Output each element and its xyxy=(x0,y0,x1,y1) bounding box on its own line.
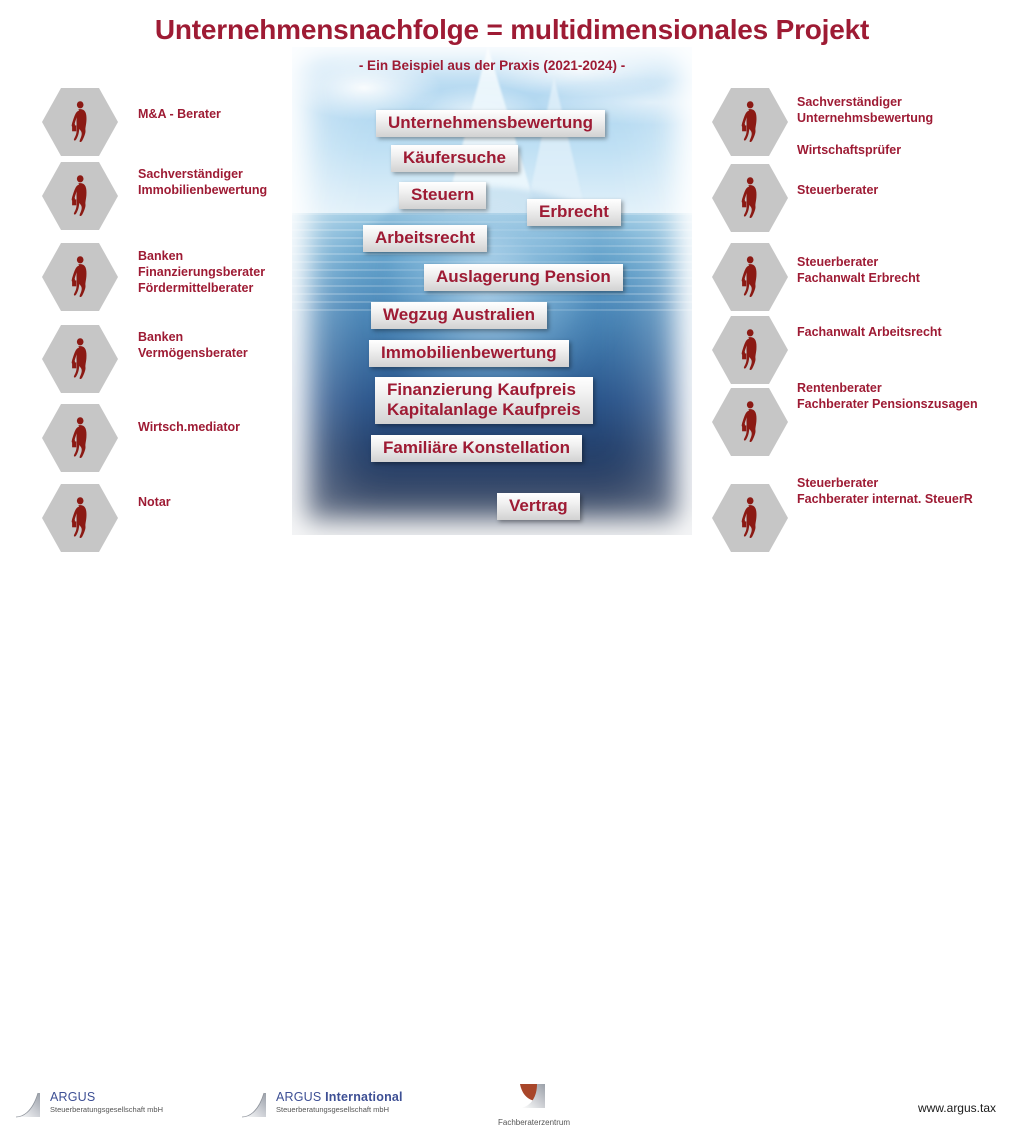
right-advisor-label-2: SteuerberaterFachanwalt Erbrecht xyxy=(797,254,920,286)
left-advisor-icon-4 xyxy=(42,404,118,472)
businessman-icon xyxy=(737,496,763,540)
iceberg-topic-box: Immobilienbewertung xyxy=(369,340,569,367)
iceberg-topic-box: Wegzug Australien xyxy=(371,302,547,329)
argus-international-logo-mark xyxy=(240,1091,270,1119)
iceberg-topic-box: Steuern xyxy=(399,182,486,209)
businessman-icon xyxy=(67,100,93,144)
businessman-icon xyxy=(67,337,93,381)
argus-logo-sub: Steuerberatungsgesellschaft mbH xyxy=(50,1106,163,1115)
iceberg-topic-box: Unternehmensbewertung xyxy=(376,110,605,137)
businessman-icon xyxy=(67,416,93,460)
iceberg-topic-box: Finanzierung KaufpreisKapitalanlage Kauf… xyxy=(375,377,593,424)
logo-argus: ARGUS Steuerberatungsgesellschaft mbH xyxy=(14,1091,163,1119)
right-advisor-label-4: RentenberaterFachberater Pensionszusagen xyxy=(797,380,978,412)
iceberg-topic-box: Familiäre Konstellation xyxy=(371,435,582,462)
businessman-icon xyxy=(67,496,93,540)
iceberg-topic-box: Käufersuche xyxy=(391,145,518,172)
argus-international-logo-name: ARGUS International xyxy=(276,1091,403,1105)
businessman-icon xyxy=(737,328,763,372)
right-advisor-label-3: Fachanwalt Arbeitsrecht xyxy=(797,324,942,340)
right-advisor-icon-4 xyxy=(712,388,788,456)
website-url: www.argus.tax xyxy=(918,1101,996,1115)
right-advisor-icon-1 xyxy=(712,164,788,232)
fachberaterzentrum-logo-mark xyxy=(517,1081,551,1111)
left-advisor-label-0: M&A - Berater xyxy=(138,106,221,122)
iceberg-topic-box: Auslagerung Pension xyxy=(424,264,623,291)
left-advisor-icon-1 xyxy=(42,162,118,230)
argus-logo-mark xyxy=(14,1091,44,1119)
footer: ARGUS Steuerberatungsgesellschaft mbH AR… xyxy=(0,535,1024,589)
businessman-icon xyxy=(737,100,763,144)
iceberg-topic-box: Arbeitsrecht xyxy=(363,225,487,252)
argus-logo-name: ARGUS xyxy=(50,1091,163,1105)
right-advisor-label-5: SteuerberaterFachberater internat. Steue… xyxy=(797,475,973,507)
left-advisor-icon-0 xyxy=(42,88,118,156)
businessman-icon xyxy=(67,255,93,299)
left-advisor-label-1: SachverständigerImmobilienbewertung xyxy=(138,166,267,198)
right-advisor-icon-0 xyxy=(712,88,788,156)
page-title: Unternehmensnachfolge = multidimensional… xyxy=(0,14,1024,46)
logo-fachberaterzentrum: Fachberaterzentrum xyxy=(498,1081,570,1127)
left-advisor-label-3: BankenVermögensberater xyxy=(138,329,248,361)
businessman-icon xyxy=(737,255,763,299)
left-advisor-label-2: BankenFinanzierungsberaterFördermittelbe… xyxy=(138,248,265,296)
businessman-icon xyxy=(737,400,763,444)
page-subtitle: - Ein Beispiel aus der Praxis (2021-2024… xyxy=(292,58,692,73)
fachberaterzentrum-logo-name: Fachberaterzentrum xyxy=(498,1118,570,1127)
left-advisor-label-5: Notar xyxy=(138,494,171,510)
iceberg-topic-box: Erbrecht xyxy=(527,199,621,226)
iceberg-topic-box: Vertrag xyxy=(497,493,580,520)
businessman-icon xyxy=(737,176,763,220)
argus-international-logo-sub: Steuerberatungsgesellschaft mbH xyxy=(276,1106,403,1115)
right-advisor-icon-3 xyxy=(712,316,788,384)
left-advisor-icon-3 xyxy=(42,325,118,393)
right-advisor-icon-2 xyxy=(712,243,788,311)
right-advisor-label-0: SachverständigerUnternehmsbewertungWirts… xyxy=(797,94,933,158)
left-advisor-icon-2 xyxy=(42,243,118,311)
right-advisor-label-1: Steuerberater xyxy=(797,182,878,198)
logo-argus-international: ARGUS International Steuerberatungsgesel… xyxy=(240,1091,403,1119)
left-advisor-label-4: Wirtsch.mediator xyxy=(138,419,240,435)
businessman-icon xyxy=(67,174,93,218)
